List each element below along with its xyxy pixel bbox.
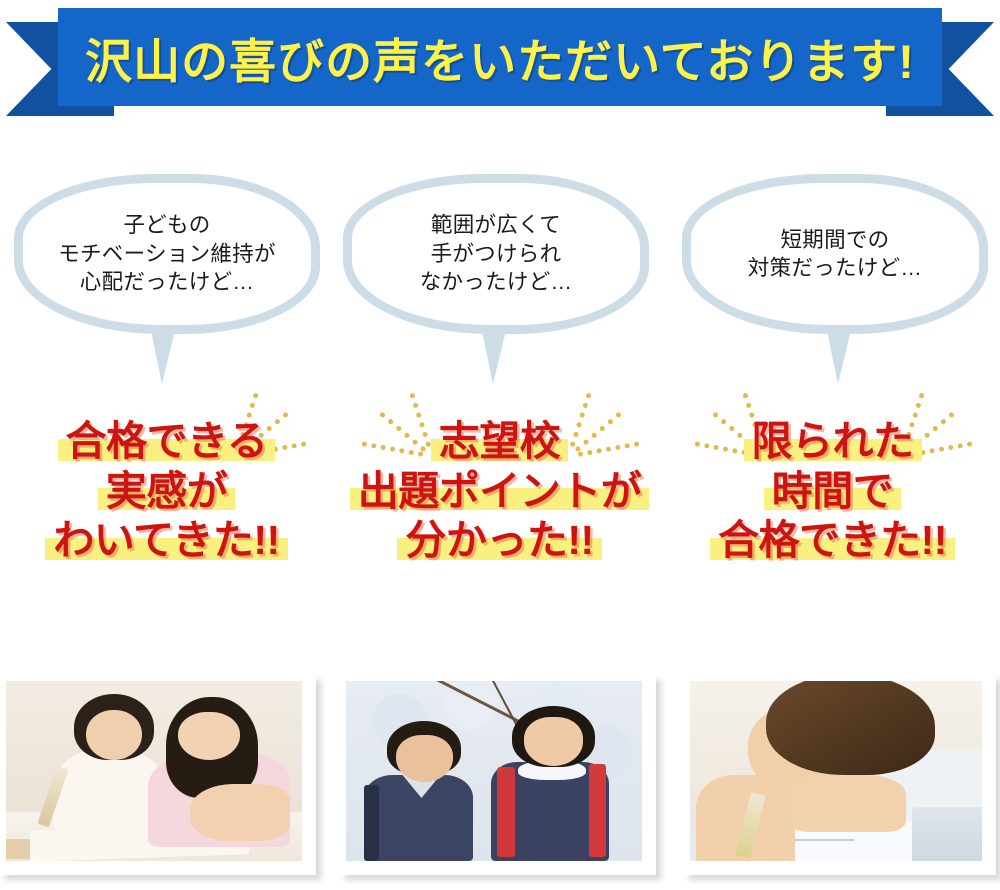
- speech-bubble-area-1: 子どもの モチベーション維持が 心配だったけど…: [0, 150, 333, 395]
- child-a-face: [86, 710, 142, 760]
- child-hair: [766, 681, 935, 775]
- testimonial-column-1: 子どもの モチベーション維持が 心配だったけど… 合格できる 実感が: [0, 150, 333, 650]
- photo-card-3: [684, 675, 996, 875]
- bubble-line: 短期間での: [748, 226, 922, 254]
- bubble-line: 手がつけられ: [420, 240, 573, 268]
- headline-text: 時間で: [772, 468, 894, 514]
- headline-text: 出題ポイントが: [358, 468, 642, 514]
- headline-text: 志望校: [439, 418, 561, 464]
- testimonial-column-3: 短期間での 対策だったけど… 限られた 時間で: [666, 150, 999, 650]
- headline-line: 合格できる: [66, 418, 268, 465]
- child-b-arm: [190, 784, 291, 842]
- headline-1: 合格できる 実感が わいてきた!!: [0, 418, 333, 567]
- child-forearm: [789, 775, 906, 833]
- photo-image-3: [690, 681, 982, 861]
- ribbon-banner: 沢山の喜びの声をいただいております!: [0, 8, 1000, 116]
- bubble-line: 範囲が広くて: [420, 211, 573, 239]
- speech-bubble-area-3: 短期間での 対策だったけど…: [666, 150, 999, 395]
- speech-bubble-3: 短期間での 対策だったけど…: [682, 174, 988, 334]
- bubble-line: 対策だったけど…: [748, 254, 922, 282]
- headline-line: 出題ポイントが: [358, 468, 642, 515]
- girl-backpack-strap-right: [589, 764, 607, 858]
- speech-bubble-text-3: 短期間での 対策だったけど…: [748, 226, 922, 283]
- photo-row: [0, 675, 1000, 890]
- bubble-line: モチベーション維持が: [58, 240, 276, 268]
- book-pages: [912, 807, 982, 861]
- girl-face: [524, 717, 583, 766]
- testimonial-columns: 子どもの モチベーション維持が 心配だったけど… 合格できる 実感が: [0, 150, 1000, 650]
- headline-line: 分かった!!: [405, 517, 593, 564]
- bubble-line: 子どもの: [58, 211, 276, 239]
- boy-face: [396, 735, 452, 782]
- headline-text: 合格できた!!: [718, 517, 947, 563]
- headline-line: わいてきた!!: [53, 517, 279, 564]
- speech-bubble-text-1: 子どもの モチベーション維持が 心配だったけど…: [58, 211, 276, 296]
- speech-bubble-2: 範囲が広くて 手がつけられ なかったけど…: [343, 174, 649, 334]
- headline-text: わいてきた!!: [53, 517, 279, 563]
- headline-line: 時間で: [772, 468, 894, 515]
- speech-bubble-tail-2: [481, 326, 507, 384]
- photo-image-2: [346, 681, 642, 861]
- headline-text: 分かった!!: [405, 517, 593, 563]
- girl-backpack-strap-left: [497, 767, 515, 857]
- speech-bubble-text-2: 範囲が広くて 手がつけられ なかったけど…: [420, 211, 573, 296]
- speech-bubble-tail-1: [150, 326, 176, 384]
- headline-line: 志望校: [439, 418, 561, 465]
- testimonial-column-2: 範囲が広くて 手がつけられ なかったけど… 志望校 出題ポイ: [333, 150, 666, 650]
- ribbon-body: 沢山の喜びの声をいただいております!: [58, 8, 942, 106]
- speech-bubble-area-2: 範囲が広くて 手がつけられ なかったけど…: [333, 150, 666, 395]
- boy-backpack-strap: [364, 785, 379, 861]
- bubble-line: なかったけど…: [420, 268, 573, 296]
- headline-text: 限られた: [752, 418, 914, 464]
- banner-title: 沢山の喜びの声をいただいております!: [85, 23, 915, 92]
- speech-bubble-1: 子どもの モチベーション維持が 心配だったけど…: [14, 174, 320, 334]
- photo-card-1: [0, 675, 316, 875]
- headline-text: 実感が: [106, 468, 228, 514]
- photo-card-2: [340, 675, 656, 875]
- headline-text: 合格できる: [66, 418, 268, 464]
- speech-bubble-tail-3: [826, 326, 852, 384]
- bubble-line: 心配だったけど…: [58, 268, 276, 296]
- headline-3: 限られた 時間で 合格できた!!: [666, 418, 999, 567]
- headline-line: 限られた: [752, 418, 914, 465]
- headline-2: 志望校 出題ポイントが 分かった!!: [333, 418, 666, 567]
- child-b-face: [178, 712, 240, 761]
- headline-line: 実感が: [106, 468, 228, 515]
- headline-line: 合格できた!!: [718, 517, 947, 564]
- photo-image-1: [6, 681, 302, 861]
